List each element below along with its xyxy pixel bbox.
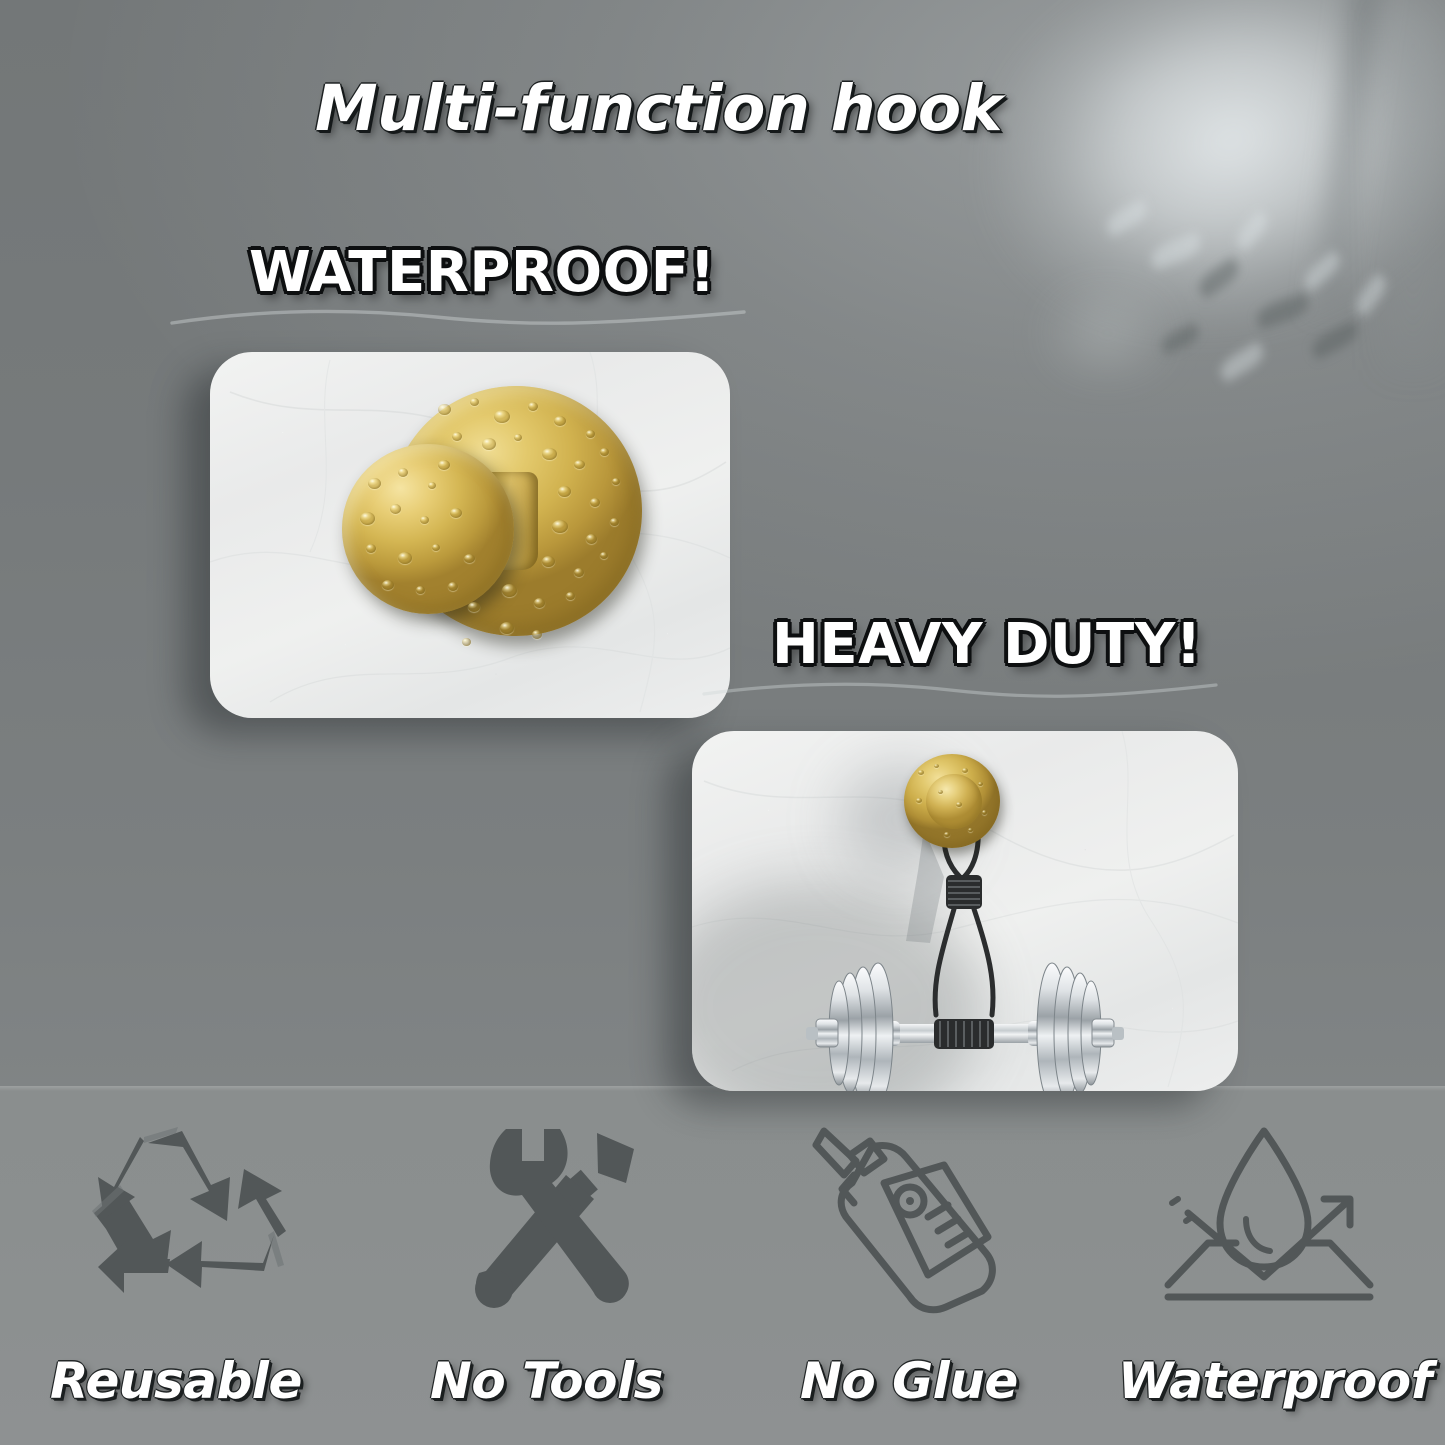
weight-plates-left [806,963,893,1091]
feature-reusable [78,1125,293,1315]
product-infographic: Multi-function hook WATERPROOF! [0,0,1445,1445]
feature-label-reusable: Reusable [50,1352,302,1410]
tools-icon [448,1125,663,1315]
window-frame-highlight [1385,10,1441,370]
callout-waterproof-underline [168,306,748,332]
gold-hook-small [904,754,1000,848]
gold-hook-wet [342,386,642,676]
water-repellent-icon [1160,1125,1390,1315]
feature-label-no-tools: No Tools [430,1352,663,1410]
glue-bottle-icon [810,1125,1025,1315]
feature-waterproof [1160,1125,1390,1315]
recycle-icon [78,1125,293,1315]
feature-no-glue [810,1125,1025,1315]
callout-heavy-duty: HEAVY DUTY! [772,612,1202,677]
photo-heavy-duty [692,731,1238,1091]
callout-heavy-duty-underline [700,678,1220,704]
feature-no-tools [448,1125,663,1315]
feature-label-waterproof: Waterproof [1118,1352,1432,1410]
page-title: Multi-function hook [315,72,1002,145]
feature-label-no-glue: No Glue [800,1352,1018,1410]
weight-plates-right [1037,963,1124,1091]
callout-waterproof: WATERPROOF! [249,240,716,305]
hook-front-disc [926,774,982,829]
photo-waterproof [210,352,730,718]
hook-front-disc [342,444,514,614]
cable-cinch-lower [934,1019,994,1049]
cable-cinch-upper [946,875,982,909]
